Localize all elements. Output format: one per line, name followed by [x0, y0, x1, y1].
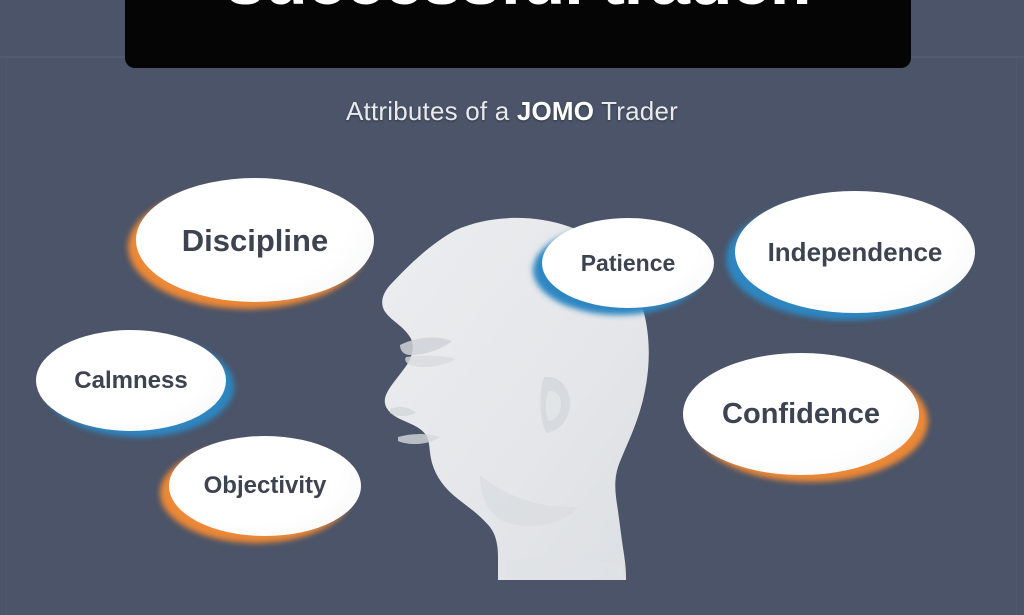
headline-text: successful trader. [125, 0, 911, 16]
bubble-label: Patience [581, 252, 676, 275]
subtitle-suffix: Trader [594, 96, 678, 126]
subtitle-emphasis: JOMO [517, 96, 594, 126]
attribute-bubble-objectivity[interactable]: Objectivity [160, 443, 352, 543]
headline-banner: successful trader. [125, 0, 911, 68]
bubble-label: Objectivity [204, 474, 327, 498]
attribute-bubble-independence[interactable]: Independence [726, 198, 966, 320]
subtitle-prefix: Attributes of a [346, 96, 517, 126]
frame-edge-right-divider [1016, 58, 1017, 615]
bubble-label: Calmness [74, 369, 187, 393]
subtitle: Attributes of a JOMO Trader [0, 96, 1024, 127]
infographic-canvas: successful trader. Attributes of a JOMO … [0, 0, 1024, 615]
bubble-label: Discipline [182, 225, 328, 256]
attribute-bubble-confidence[interactable]: Confidence [692, 360, 928, 482]
bubble-label: Confidence [722, 400, 880, 429]
bubble-label: Independence [768, 239, 943, 265]
attribute-bubble-calmness[interactable]: Calmness [44, 336, 234, 437]
attribute-bubble-discipline[interactable]: Discipline [128, 185, 366, 309]
attribute-bubble-patience[interactable]: Patience [533, 225, 705, 315]
frame-edge-left-divider [6, 58, 7, 615]
